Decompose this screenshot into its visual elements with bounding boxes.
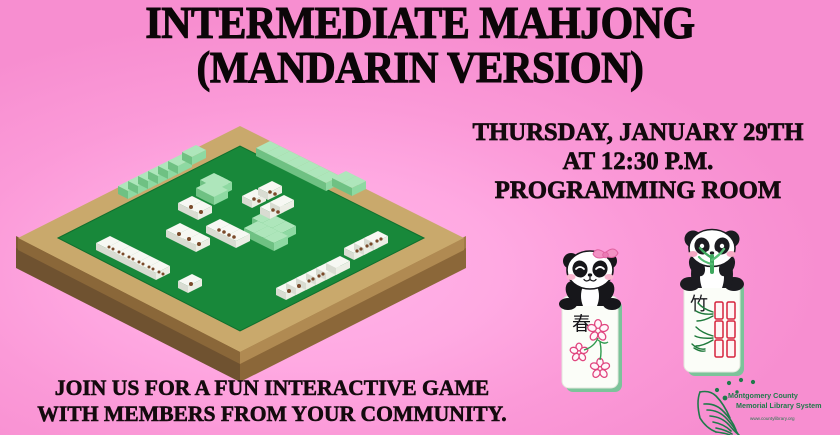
tagline-line-2: WITH MEMBERS FROM YOUR COMMUNITY.: [32, 401, 512, 427]
logo-line-1: Montgomery County: [728, 391, 798, 400]
title-line-2: (MANDARIN VERSION): [29, 47, 810, 89]
event-time: AT 12:30 P.M.: [444, 147, 832, 176]
tile-spring-character: 春: [572, 313, 591, 335]
library-logo: Montgomery County Memorial Library Syste…: [694, 374, 840, 435]
event-flyer: INTERMEDIATE MAHJONG (MANDARIN VERSION): [0, 0, 840, 435]
tagline: JOIN US FOR A FUN INTERACTIVE GAME WITH …: [22, 375, 522, 426]
panda-figure: [680, 230, 744, 292]
svg-text:春: 春: [572, 313, 591, 335]
panda-with-bow-on-spring-tile: 春: [548, 244, 640, 394]
logo-url: www.countylibrary.org: [750, 416, 795, 421]
isometric-table-svg: [14, 108, 474, 408]
event-location: PROGRAMMING ROOM: [444, 176, 832, 205]
title-line-1: INTERMEDIATE MAHJONG: [29, 2, 810, 45]
logo-line-2: Memorial Library System: [736, 401, 822, 410]
event-date: THURSDAY, JANUARY 29TH: [444, 118, 832, 147]
pink-bow-icon: [593, 249, 618, 258]
panda-figure: [559, 249, 621, 310]
spring-mahjong-tile: [562, 296, 622, 392]
mahjong-table-illustration: [14, 108, 474, 408]
tagline-line-1: JOIN US FOR A FUN INTERACTIVE GAME: [32, 375, 512, 401]
event-details: THURSDAY, JANUARY 29TH AT 12:30 P.M. PRO…: [438, 118, 838, 204]
panda-eating-bamboo-on-bamboo-tile: 竹: [668, 224, 760, 376]
page-title: INTERMEDIATE MAHJONG (MANDARIN VERSION): [0, 2, 840, 89]
